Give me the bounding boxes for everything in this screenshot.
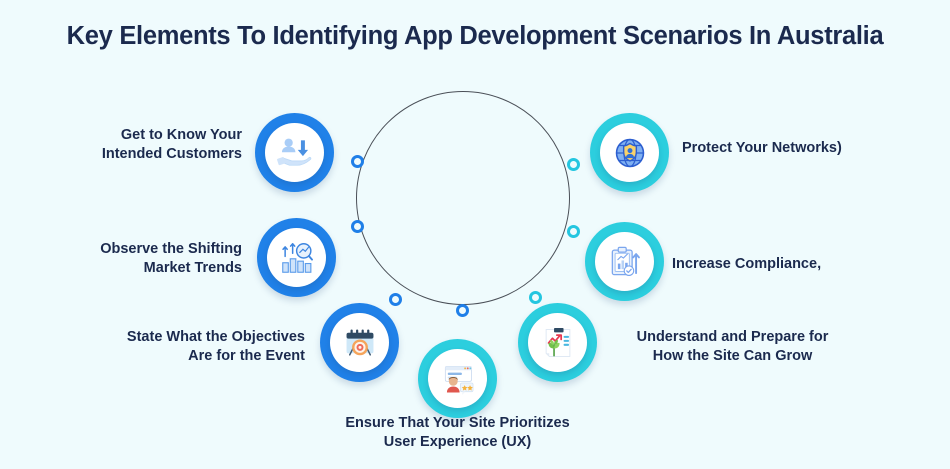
item-label-7: Protect Your Networks) [682, 139, 932, 158]
node-dot-1 [351, 155, 364, 168]
person-hand-download-icon [276, 134, 314, 172]
item-icon-ring-5[interactable] [518, 303, 597, 382]
center-circle [356, 91, 570, 305]
item-label-6: Increase Compliance, [672, 255, 922, 274]
globe-shield-user-icon [611, 134, 649, 172]
calendar-target-icon [341, 324, 379, 362]
item-icon-ring-4[interactable] [418, 339, 497, 418]
bar-chart-magnifier-icon [278, 239, 316, 277]
item-label-4: Ensure That Your Site Prioritizes User E… [315, 414, 600, 452]
node-dot-3 [389, 293, 402, 306]
item-label-2: Observe the Shifting Market Trends [20, 240, 242, 278]
page-title: Key Elements To Identifying App Developm… [0, 22, 950, 51]
item-label-5: Understand and Prepare for How the Site … [600, 328, 865, 366]
node-dot-5 [529, 291, 542, 304]
item-icon-ring-7[interactable] [590, 113, 669, 192]
item-icon-ring-2[interactable] [257, 218, 336, 297]
item-icon-ring-1[interactable] [255, 113, 334, 192]
node-dot-2 [351, 220, 364, 233]
node-dot-4 [456, 304, 469, 317]
growth-report-plant-icon [539, 324, 577, 362]
node-dot-6 [567, 225, 580, 238]
infographic-canvas: Key Elements To Identifying App Developm… [0, 0, 950, 469]
node-dot-7 [567, 158, 580, 171]
item-icon-ring-3[interactable] [320, 303, 399, 382]
item-icon-ring-6[interactable] [585, 222, 664, 301]
clipboard-checklist-arrow-icon [606, 243, 644, 281]
item-label-1: Get to Know Your Intended Customers [20, 126, 242, 164]
item-label-3: State What the Objectives Are for the Ev… [40, 328, 305, 366]
user-review-stars-icon [439, 360, 477, 398]
